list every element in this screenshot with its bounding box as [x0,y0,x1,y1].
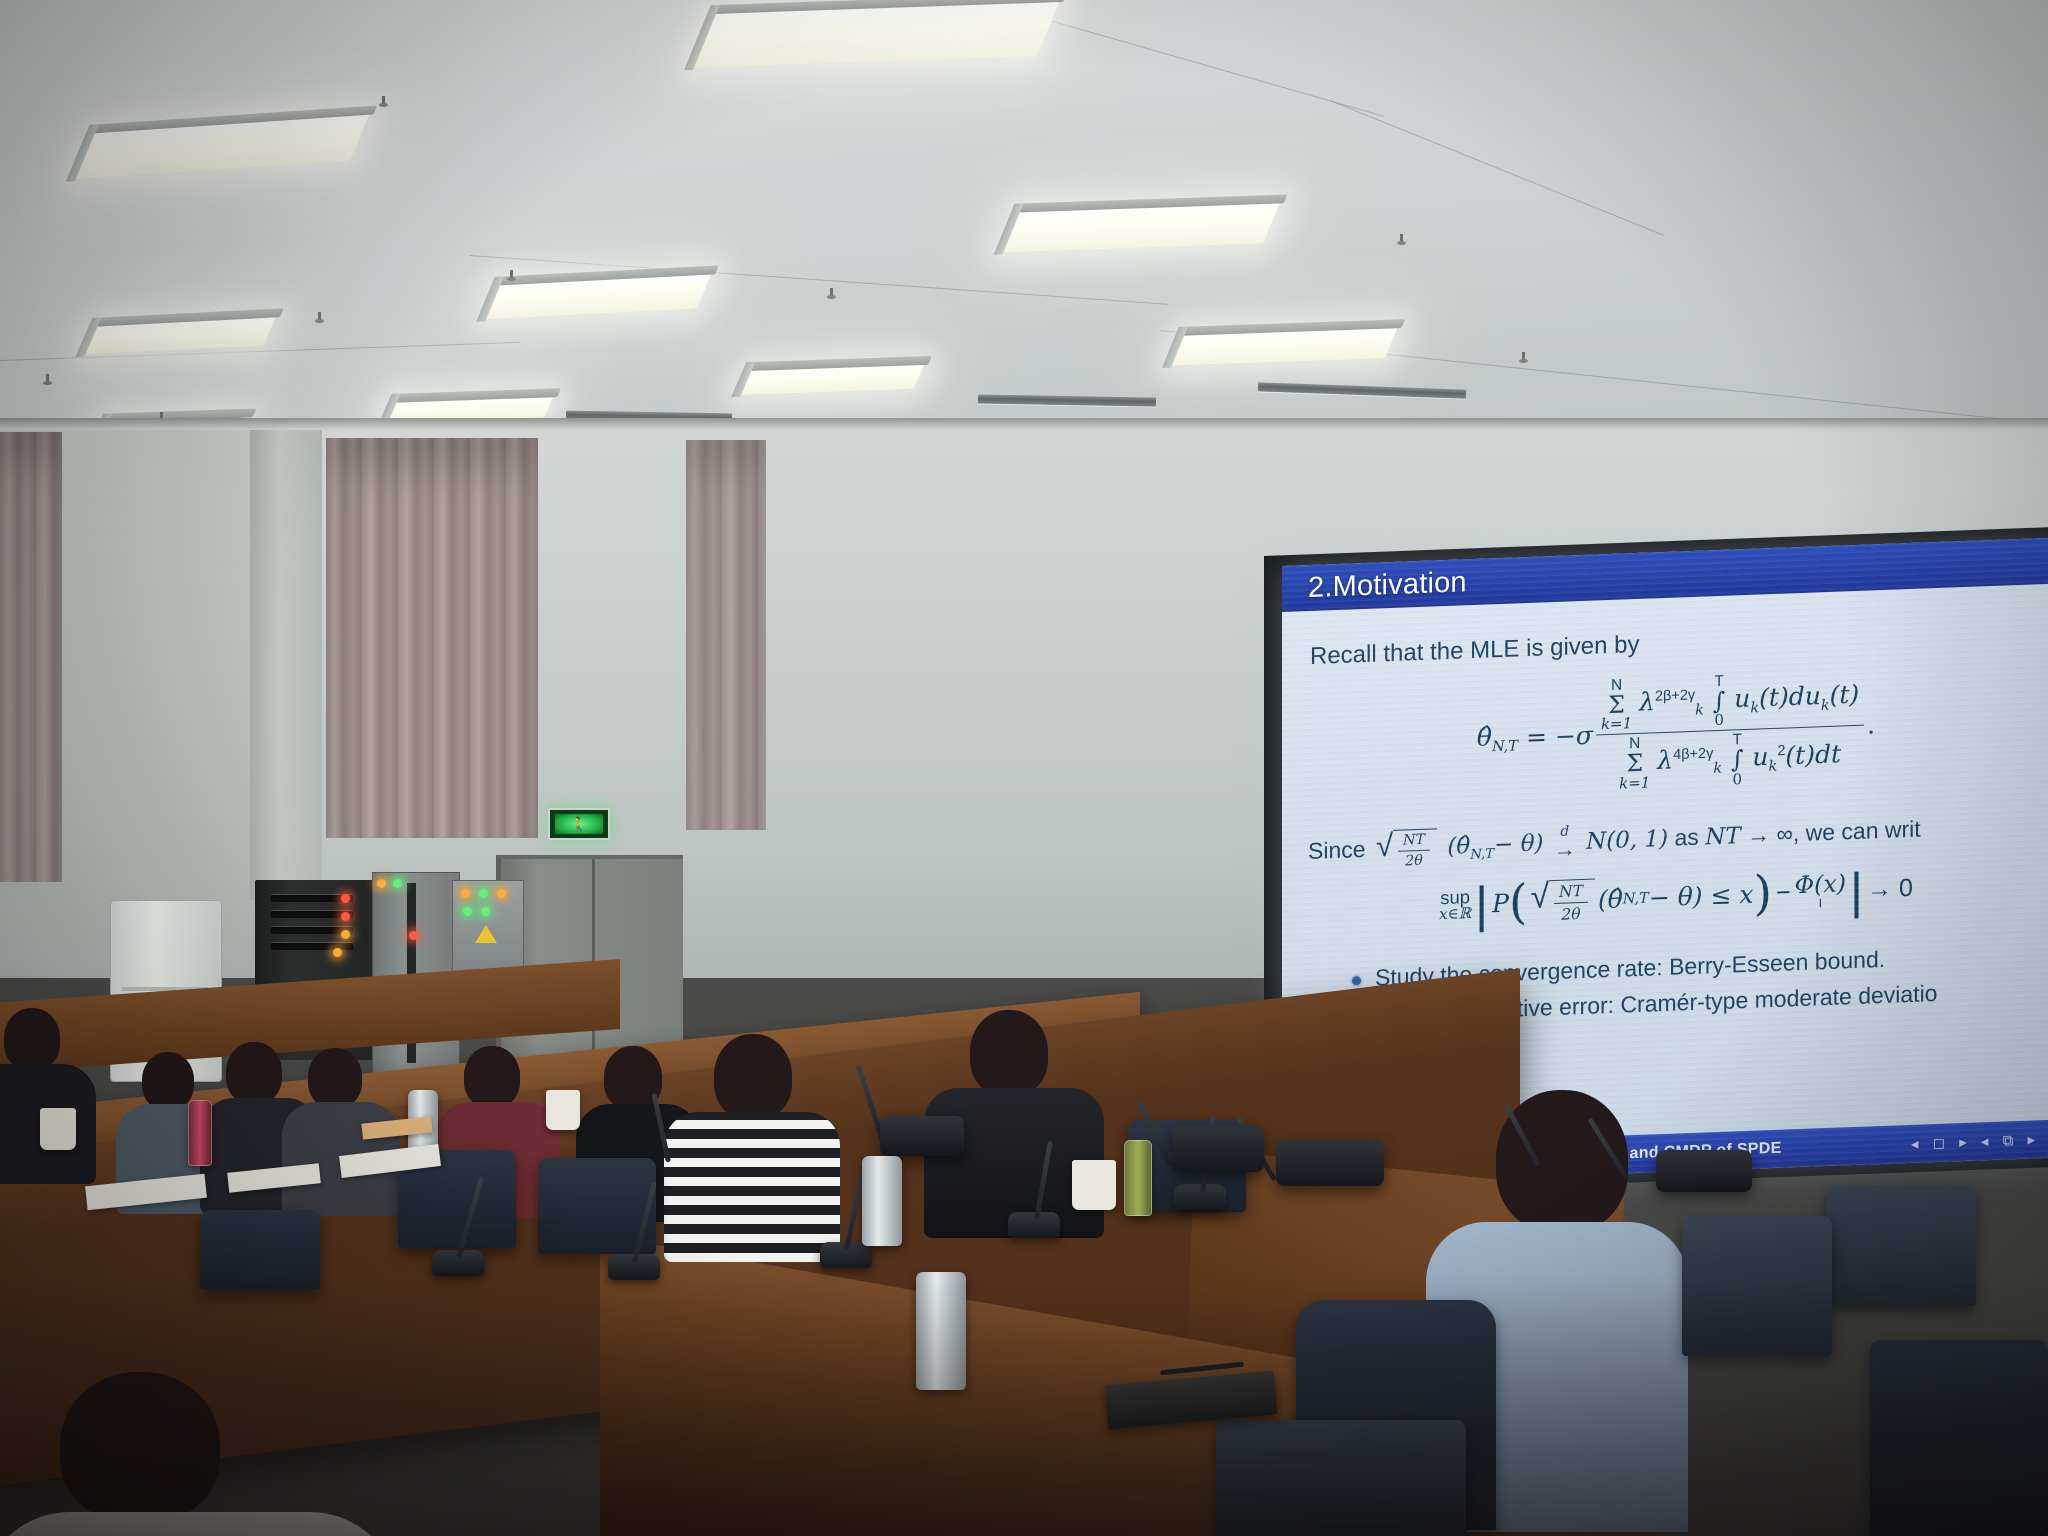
beverage-bottle[interactable] [1124,1140,1152,1216]
ceiling-air-vent [978,394,1156,406]
status-led [341,894,350,903]
status-led [463,907,472,916]
ceiling-light-panel [692,0,1060,68]
slide-nav-controls[interactable]: ◂ ◻ ▸ ◂ ⧉ ▸ [1911,1130,2040,1153]
sprinkler-head-icon [316,312,323,325]
exit-sign-icon: 🚶 [548,808,610,840]
since-sqrt: √ NT 2θ [1376,828,1437,870]
ceiling-light-panel [1001,202,1280,253]
equation-berry-esseen: sup x∈ℝ | P ( √ NT 2θ (θ̂N,T− θ) ≤ x [1308,862,2044,933]
eq1-lhs: θ̂ [1477,723,1492,753]
chair[interactable] [200,1210,320,1290]
window-curtain [326,438,538,838]
wall-column [250,430,322,900]
eq1-numerator: N Σ k=1 λ2β+2γk T ∫ 0 uk(t)duk(t) [1596,669,1864,736]
conference-unit[interactable] [1172,1126,1264,1172]
eq1-equals: = [1526,723,1547,753]
control-panel-box[interactable] [452,880,524,978]
window-curtain [686,440,766,830]
wall-ceiling-shadow [0,418,2048,430]
ceiling-light-panel [74,113,370,180]
eq2-sqrt: √ NT 2θ [1531,878,1595,924]
eq2-sup: sup x∈ℝ [1439,888,1471,923]
eq1-den-sum: N Σ k=1 [1619,736,1650,791]
eq2-frac: NT 2θ [1554,881,1588,923]
status-led [333,948,342,957]
bullet-dot-icon [1352,976,1361,985]
slide-title: 2.Motivation [1308,566,1467,605]
since-convergence-arrow: d → [1554,825,1576,861]
ceiling-air-vent [1258,382,1466,398]
beverage-bottle[interactable] [188,1100,212,1166]
status-led [497,889,506,898]
eq1-period: . [1867,711,1875,740]
conference-unit[interactable] [880,1116,964,1156]
water-glass[interactable] [862,1156,902,1246]
eq1-lhs-sub: N,T [1492,739,1518,756]
eq1-denominator: N Σ k=1 λ4β+2γk T ∫ 0 uk2(t)dt [1614,727,1846,792]
sprinkler-head-icon [508,270,515,283]
eq1-den-integral: T ∫ 0 [1731,732,1743,787]
status-led [341,912,350,921]
ceiling-light-panel [739,363,925,395]
since-frac: NT 2θ [1398,831,1430,869]
sprinkler-head-icon [1398,234,1405,247]
vacuum-flask[interactable] [916,1272,966,1390]
equation-mle: θ̂N,T = −σ N Σ k=1 λ2β+2γk T ∫ [1308,662,2044,802]
status-led [461,889,470,898]
since-line: Since √ NT 2θ (θ̂N,T− θ) d → N(0, 1) [1308,806,2044,873]
sprinkler-head-icon [1520,352,1527,365]
slide-lead-text: Recall that the MLE is given by [1310,616,2044,671]
eq1-sign: −σ [1555,721,1593,751]
status-led [377,879,386,888]
paper-cup[interactable] [546,1090,580,1130]
window-curtain [0,432,62,882]
chair[interactable] [1682,1216,1832,1356]
chair[interactable] [1826,1186,1976,1306]
status-led [481,907,490,916]
eq1-num-integral: T ∫ 0 [1713,674,1725,729]
ceiling-seam [1330,100,1664,236]
seminar-room-photo: 🚶 2.Motivation [0,0,2048,1536]
eq1-num-sum: N Σ k=1 [1601,677,1632,732]
exit-sign-glow: 🚶 [555,814,603,834]
conference-unit[interactable] [1656,1150,1752,1192]
chair[interactable] [1870,1340,2048,1536]
sprinkler-head-icon [380,96,387,109]
status-led [393,879,402,888]
eq1-fraction: N Σ k=1 λ2β+2γk T ∫ 0 uk(t)duk(t) [1596,669,1864,792]
ceiling-light-panel [83,315,276,354]
sprinkler-head-icon [828,288,835,301]
conference-unit[interactable] [1276,1140,1384,1186]
ceiling-light-panel [484,273,712,320]
status-led [341,930,350,939]
status-led [479,889,488,898]
since-word: Since [1308,835,1366,863]
status-led [409,931,418,940]
eq2-phi-with-cursor: Φ(x) I [1795,873,1846,911]
warning-triangle-icon [475,925,497,943]
paper-cup[interactable] [1072,1160,1116,1210]
paper-cup[interactable] [40,1108,76,1150]
sprinkler-head-icon [44,374,51,387]
chair[interactable] [1216,1420,1466,1536]
